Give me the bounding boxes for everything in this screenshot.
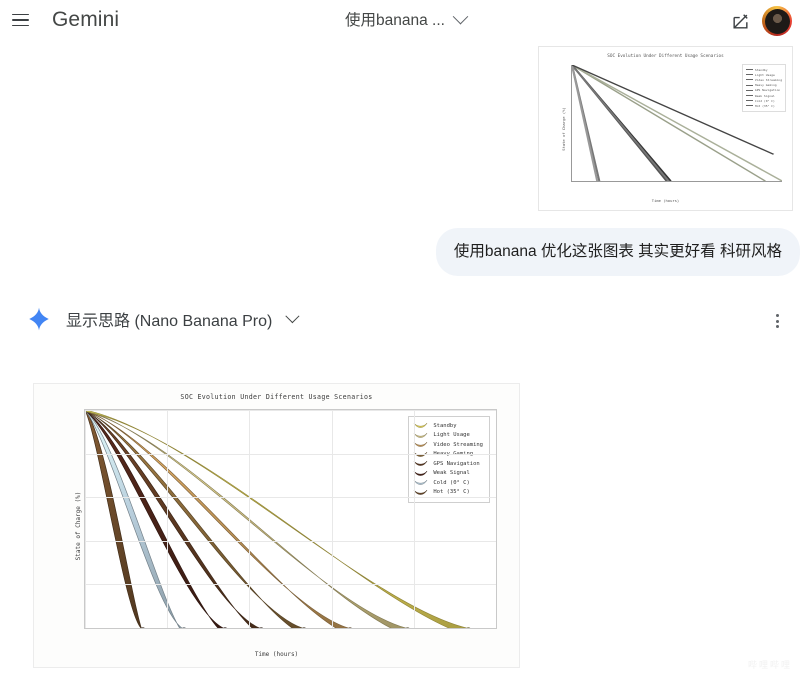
chart-legend-swatch: [413, 479, 428, 486]
model-response-header[interactable]: 显示思路 (Nano Banana Pro): [26, 306, 296, 332]
chart-gridline-horizontal: [85, 628, 496, 629]
top-bar-actions: [726, 6, 792, 36]
chart-legend-label: Standby: [433, 423, 456, 429]
attached-chart-thumbnail[interactable]: SOC Evolution Under Different Usage Scen…: [538, 46, 793, 211]
thumb-legend-item: Hot (35° C): [746, 103, 782, 108]
chart-legend-item: Weak Signal: [413, 469, 483, 479]
chart-legend-swatch: [413, 432, 428, 439]
chart-legend-swatch: [413, 460, 428, 467]
chart-gridline-vertical: [167, 410, 168, 628]
response-thoughts-label: 显示思路 (Nano Banana Pro): [66, 307, 272, 331]
chevron-down-icon: [286, 309, 300, 323]
thumb-legend: StandbyLight UsageVideo StreamingHeavy G…: [742, 64, 786, 112]
thumb-legend-swatch: [746, 90, 753, 91]
chart-legend-item: Hot (35° C): [413, 488, 483, 498]
thumb-legend-label: Hot (35° C): [755, 104, 775, 108]
thumb-legend-label: Standby: [755, 68, 768, 72]
chart-gridline-horizontal: [85, 584, 496, 585]
conversation-title-selector[interactable]: 使用banana ...: [345, 8, 466, 30]
thumb-legend-swatch: [746, 105, 753, 106]
chart-legend-item: Cold (0° C): [413, 478, 483, 488]
chart-plot-area: StandbyLight UsageVideo StreamingHeavy G…: [84, 409, 497, 629]
chart-gridline-horizontal: [85, 541, 496, 542]
chart-legend-item: Video Streaming: [413, 440, 483, 450]
chart-legend-item: Light Usage: [413, 431, 483, 441]
more-options-icon[interactable]: [768, 312, 786, 330]
thumb-legend-swatch: [746, 100, 753, 101]
chevron-down-icon: [453, 8, 469, 24]
thumb-legend-label: GPS Navigation: [755, 88, 780, 92]
app-brand-title: Gemini: [52, 8, 119, 32]
chart-legend-swatch: [413, 489, 428, 496]
thumb-legend-swatch: [746, 79, 753, 80]
thumb-legend-label: Cold (0° C): [755, 99, 775, 103]
thumb-y-axis-label: State of Charge (%): [561, 107, 566, 150]
thumb-legend-swatch: [746, 74, 753, 75]
chart-legend-item: Standby: [413, 421, 483, 431]
thumb-legend-swatch: [746, 95, 753, 96]
thumb-x-axis-label: Time (hours): [652, 198, 679, 203]
chart-gridline-horizontal: [85, 497, 496, 498]
gemini-sparkle-icon: [26, 306, 52, 332]
conversation-title: 使用banana ...: [345, 8, 445, 30]
thumb-legend-label: Weak Signal: [755, 94, 775, 98]
chart-x-axis-label: Time (hours): [255, 651, 298, 658]
thumb-legend-label: Video Streaming: [755, 78, 782, 82]
gemini-chat-screen: Gemini 使用banana ... SOC Evolution Under …: [0, 0, 800, 677]
chart-legend: StandbyLight UsageVideo StreamingHeavy G…: [408, 416, 490, 503]
hamburger-icon[interactable]: [12, 7, 38, 33]
chart-legend-label: Hot (35° C): [433, 489, 469, 495]
chart-legend-label: Cold (0° C): [433, 480, 469, 486]
chart-gridline-vertical: [332, 410, 333, 628]
chart-gridline-vertical: [496, 410, 497, 628]
thumb-legend-label: Heavy Gaming: [755, 83, 777, 87]
thumb-legend-label: Light Usage: [755, 73, 775, 77]
user-message-bubble: 使用banana 优化这张图表 其实更好看 科研风格: [436, 228, 800, 276]
chart-legend-label: Weak Signal: [433, 470, 469, 476]
chart-gridline-horizontal: [85, 454, 496, 455]
compose-icon[interactable]: [726, 7, 754, 35]
watermark: 哔哩哔哩: [748, 658, 792, 671]
chart-legend-label: Light Usage: [433, 432, 469, 438]
thumb-chart-title: SOC Evolution Under Different Usage Scen…: [539, 54, 792, 59]
thumb-legend-swatch: [746, 69, 753, 70]
chart-title: SOC Evolution Under Different Usage Scen…: [34, 393, 519, 401]
chart-legend-swatch: [413, 441, 428, 448]
chart-legend-label: GPS Navigation: [433, 461, 479, 467]
chart-gridline-vertical: [414, 410, 415, 628]
chart-gridline-vertical: [85, 410, 86, 628]
user-avatar[interactable]: [762, 6, 792, 36]
chart-gridline-horizontal: [85, 410, 496, 411]
chart-y-axis-label: State of Charge (%): [75, 491, 82, 560]
chart-banana-curve: [85, 410, 351, 628]
chart-legend-label: Video Streaming: [433, 442, 483, 448]
generated-chart-image[interactable]: SOC Evolution Under Different Usage Scen…: [33, 383, 520, 668]
thumb-legend-swatch: [746, 85, 753, 86]
chart-gridline-vertical: [249, 410, 250, 628]
chart-legend-item: GPS Navigation: [413, 459, 483, 469]
chart-legend-swatch: [413, 422, 428, 429]
chart-legend-swatch: [413, 470, 428, 477]
